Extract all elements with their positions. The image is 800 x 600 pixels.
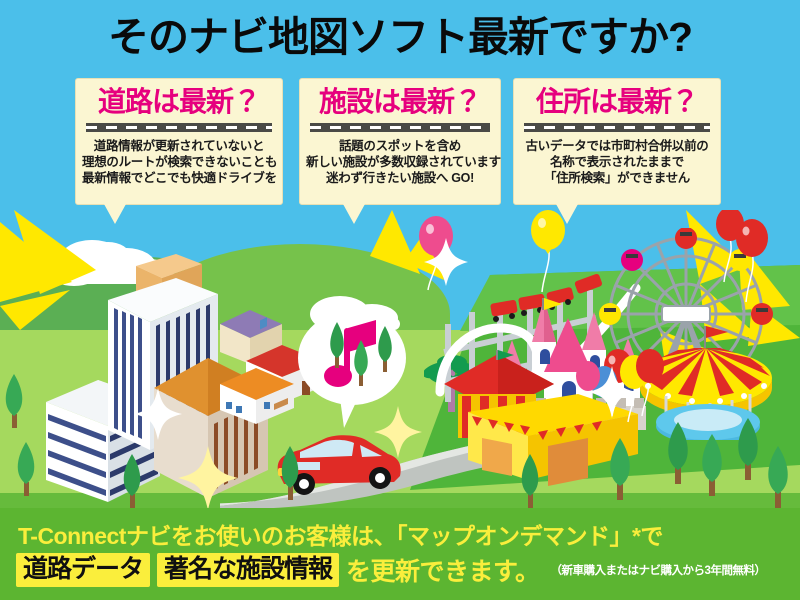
callout-title-facility: 施設は最新？	[306, 85, 494, 119]
road-divider-icon	[310, 123, 490, 132]
banner-fineprint: （新車購入またはナビ購入から3年間無料）	[551, 562, 766, 578]
callout-title-road: 道路は最新？	[82, 85, 276, 119]
banner-suffix: を更新できます。	[346, 552, 540, 588]
callout-line: 古いデータでは市町村合併以前の	[520, 138, 714, 154]
callout-line: 名称で表示されたままで	[520, 154, 714, 170]
callout-tail-road	[104, 204, 126, 224]
tag-road-data: 道路データ	[16, 553, 150, 587]
callout-title-address: 住所は最新？	[520, 85, 714, 119]
callout-line: 「住所検索」ができません	[520, 170, 714, 186]
callout-tail-facility	[343, 204, 365, 224]
bottom-banner: T-Connectナビをお使いのお客様は、「マップオンデマンド」*で 道路データ…	[0, 508, 800, 600]
callout-line: 道路情報が更新されていないと	[82, 138, 276, 154]
illustration-scene	[0, 210, 800, 510]
page-headline: そのナビ地図ソフト最新ですか?	[0, 8, 800, 66]
callout-box-address: 住所は最新？ 古いデータでは市町村合併以前の 名称で表示されたままで 「住所検索…	[513, 78, 721, 205]
callout-box-facility: 施設は最新？ 話題のスポットを含め 新しい施設が多数収録されています 迷わず行き…	[299, 78, 501, 205]
tag-facility-info: 著名な施設情報	[157, 553, 339, 587]
callout-line: 迷わず行きたい施設へ GO!	[306, 170, 494, 186]
callout-box-road: 道路は最新？ 道路情報が更新されていないと 理想のルートが検索できないことも 最…	[75, 78, 283, 205]
callout-tail-address	[556, 204, 578, 224]
advertisement-poster: そのナビ地図ソフト最新ですか? 道路は最新？ 道路情報が更新されていないと 理想…	[0, 0, 800, 600]
callout-line: 理想のルートが検索できないことも	[82, 154, 276, 170]
road-divider-icon	[524, 123, 710, 132]
banner-headline: T-Connectナビをお使いのお客様は、「マップオンデマンド」*で	[18, 517, 663, 551]
road-divider-icon	[86, 123, 272, 132]
callout-line: 最新情報でどこでも快適ドライブを	[82, 170, 276, 186]
callout-line: 新しい施設が多数収録されています	[306, 154, 494, 170]
banner-second-line: 道路データ 著名な施設情報 を更新できます。 （新車購入またはナビ購入から3年間…	[16, 552, 765, 588]
callout-line: 話題のスポットを含め	[306, 138, 494, 154]
sparkles	[0, 210, 800, 510]
